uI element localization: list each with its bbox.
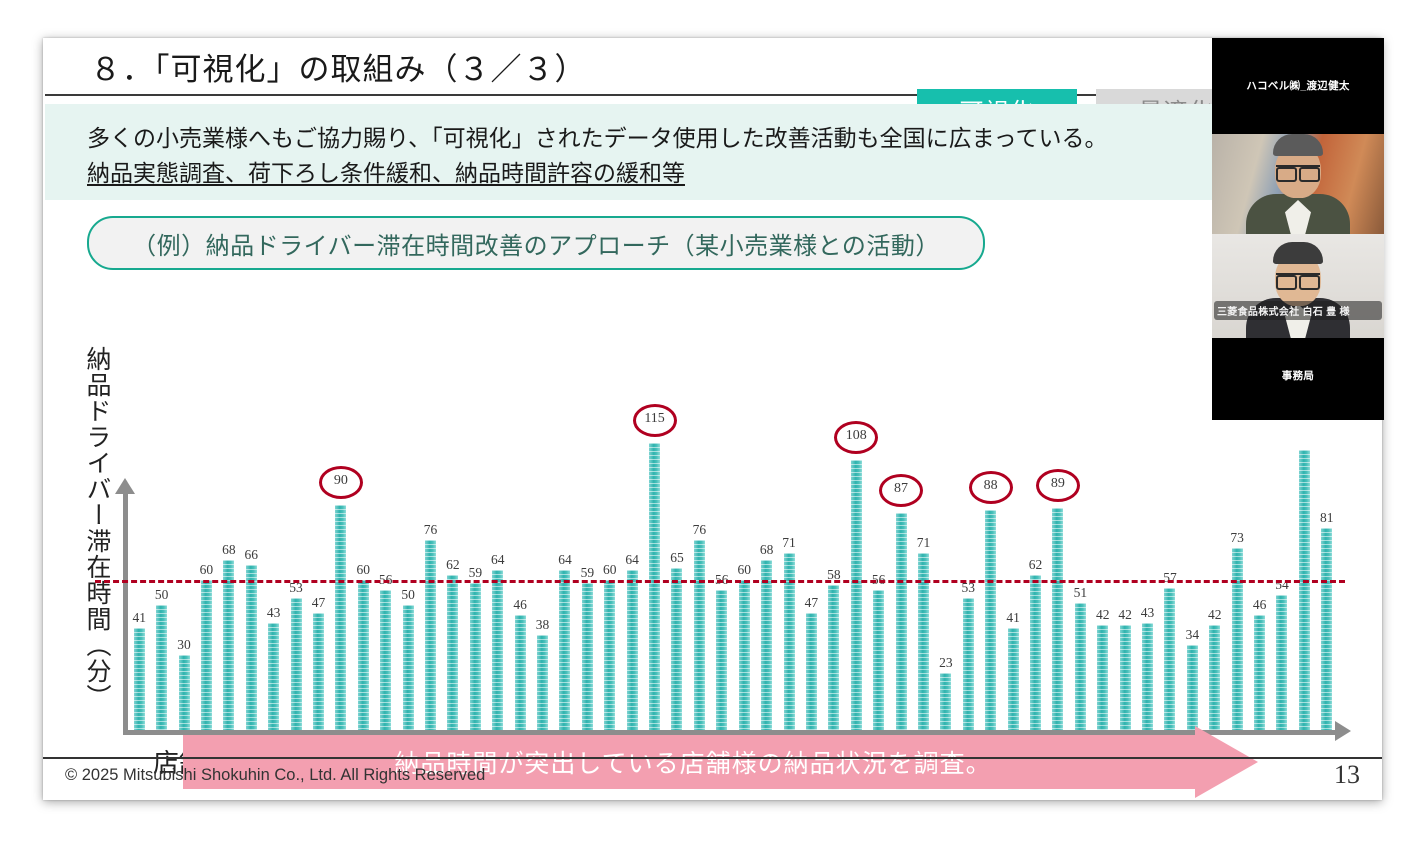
chart-bar-fill — [403, 605, 414, 730]
chart-bar: 53 — [963, 598, 974, 731]
survey-arrow-annotation: 納品時間が突出している店舗様の納品状況を調査。 — [183, 726, 1258, 798]
chart-bar-fill — [627, 570, 638, 730]
chart-bar-fill — [828, 585, 839, 730]
chart-bar-fill — [1030, 575, 1041, 730]
chart-bar: 68 — [223, 560, 234, 730]
chart-bar: 23 — [940, 673, 951, 731]
chart-bar-fill — [582, 583, 593, 731]
chart-bar-value: 57 — [1163, 570, 1177, 586]
slide-title-bar: ８．「可視化」の取組み（３／３） — [43, 38, 1382, 96]
chart-bar: 38 — [537, 635, 548, 730]
video-tile-3[interactable]: 三菱食品株式会社 白石 豊 様 — [1212, 234, 1384, 338]
video-tile-2[interactable] — [1212, 134, 1384, 234]
chart-bar-value: 41 — [132, 610, 146, 626]
chart-bar: 65 — [671, 568, 682, 731]
chart-bar: 59 — [582, 583, 593, 731]
lead-line-1: 多くの小売業様へもご協力賜り、「可視化」されたデータ使用した改善活動も全国に広ま… — [87, 119, 1108, 153]
chart-bar-value-highlighted: 89 — [1036, 469, 1080, 502]
video-tile-4-name: 事務局 — [1212, 368, 1384, 383]
chart-bar-value: 42 — [1096, 607, 1110, 623]
lead-banner: 多くの小売業様へもご協力賜り、「可視化」されたデータ使用した改善活動も全国に広ま… — [45, 104, 1212, 200]
example-callout-text: （例）納品ドライバー滞在時間改善のアプローチ（某小売業様との活動） — [132, 226, 940, 261]
chart-bar: 51 — [1075, 603, 1086, 731]
chart-bar-fill — [1276, 595, 1287, 730]
chart-bar-value: 59 — [469, 565, 483, 581]
presentation-slide: ８．「可視化」の取組み（３／３） 可視化 最適化 多くの小売業様へもご協力賜り、… — [43, 38, 1382, 800]
chart-bar-fill — [1232, 548, 1243, 731]
lead-line-2: 納品実態調査、荷下ろし条件緩和、納品時間許容の緩和等 — [87, 154, 685, 188]
chart-bar: 46 — [1254, 615, 1265, 730]
chart-bar: 60 — [358, 580, 369, 730]
chart-bar: 56 — [873, 590, 884, 730]
chart-bar-fill — [873, 590, 884, 730]
chart-bar-fill — [716, 590, 727, 730]
chart-bar-value-highlighted: 108 — [834, 421, 878, 454]
chart-bar-value-highlighted: 88 — [969, 471, 1013, 504]
chart-bar-fill — [1075, 603, 1086, 731]
chart-bar-fill — [604, 580, 615, 730]
chart-y-axis-label: 納品ドライバー滞在時間（分） — [75, 346, 109, 710]
chart-bar: 64 — [627, 570, 638, 730]
chart-bar-value: 64 — [625, 552, 639, 568]
chart-bar: 60 — [739, 580, 750, 730]
example-callout-box: （例）納品ドライバー滞在時間改善のアプローチ（某小売業様との活動） — [87, 216, 985, 270]
video-conference-panel: ハコベル㈱_渡辺健太 三菱食品株式会社 白石 豊 様 事務局 — [1212, 38, 1384, 420]
chart-bar: 47 — [313, 613, 324, 731]
chart-bar: 87 — [896, 513, 907, 731]
chart-bar-fill — [1164, 588, 1175, 731]
chart-bar: 54 — [1276, 595, 1287, 730]
chart-bar: 66 — [246, 565, 257, 730]
arrow-head-icon — [1195, 726, 1258, 798]
chart-bar-fill — [761, 560, 772, 730]
chart-bar-value: 38 — [536, 617, 550, 633]
chart-bar — [1299, 450, 1310, 730]
participant-avatar-1 — [1238, 134, 1358, 234]
chart-bar-value: 23 — [939, 655, 953, 671]
chart-bar-fill — [649, 443, 660, 731]
chart-bar-fill — [156, 605, 167, 730]
footer-page-number: 13 — [1334, 760, 1360, 790]
chart-bar: 115 — [649, 443, 660, 731]
chart-bar: 47 — [806, 613, 817, 731]
chart-bar-fill — [1299, 450, 1310, 730]
chart-bar: 50 — [403, 605, 414, 730]
chart-bar-value: 73 — [1230, 530, 1244, 546]
chart-bar-fill — [1142, 623, 1153, 731]
chart-bar-value: 43 — [267, 605, 281, 621]
chart-bar-value: 71 — [782, 535, 796, 551]
chart-bar-value: 46 — [513, 597, 527, 613]
chart-bar-fill — [1321, 528, 1332, 731]
chart-bar-fill — [963, 598, 974, 731]
chart-bar-value: 42 — [1208, 607, 1222, 623]
chart-bar: 81 — [1321, 528, 1332, 731]
threshold-reference-line — [95, 580, 1345, 583]
chart-bar-fill — [470, 583, 481, 731]
footer-copyright: © 2025 Mitsubishi Shokuhin Co., Ltd. All… — [65, 766, 485, 785]
chart-bar-fill — [1209, 625, 1220, 730]
chart-bar-fill — [537, 635, 548, 730]
chart-bar-fill — [335, 505, 346, 730]
chart-bar-fill — [358, 580, 369, 730]
screen: ８．「可視化」の取組み（３／３） 可視化 最適化 多くの小売業様へもご協力賜り、… — [0, 0, 1425, 842]
chart-bar-value: 47 — [312, 595, 326, 611]
chart-bar-fill — [940, 673, 951, 731]
video-tile-1-name: ハコベル㈱_渡辺健太 — [1212, 78, 1384, 93]
chart-bar-value: 46 — [1253, 597, 1267, 613]
chart-bar-value-highlighted: 87 — [879, 474, 923, 507]
page-title: ８．「可視化」の取組み（３／３） — [90, 44, 587, 89]
chart-bar-value: 59 — [581, 565, 595, 581]
chart-bar-fill — [1120, 625, 1131, 730]
chart-bar-value: 60 — [357, 562, 371, 578]
chart-bar-value: 65 — [670, 550, 684, 566]
chart-bar-value: 50 — [401, 587, 415, 603]
chart-bar-value: 51 — [1074, 585, 1088, 601]
chart-bar: 42 — [1097, 625, 1108, 730]
chart-bar-fill — [1052, 508, 1063, 731]
chart-bar-fill — [313, 613, 324, 731]
chart-bar: 88 — [985, 510, 996, 730]
chart-bar-value: 60 — [737, 562, 751, 578]
chart-bar-value: 71 — [917, 535, 931, 551]
chart-bar-value: 60 — [200, 562, 214, 578]
chart-bar-fill — [223, 560, 234, 730]
video-tile-3-name: 三菱食品株式会社 白石 豊 様 — [1214, 301, 1382, 320]
chart-bar: 30 — [179, 655, 190, 730]
chart-bar: 73 — [1232, 548, 1243, 731]
chart-bar-value: 66 — [244, 547, 258, 563]
footer-divider — [43, 757, 1382, 759]
chart-bar-value: 68 — [760, 542, 774, 558]
chart-bar-fill — [492, 570, 503, 730]
chart-bar-fill — [559, 570, 570, 730]
chart-bar: 76 — [425, 540, 436, 730]
chart-bar-value: 68 — [222, 542, 236, 558]
chart-bar-value: 62 — [1029, 557, 1043, 573]
chart-bar: 64 — [492, 570, 503, 730]
chart-bar-fill — [447, 575, 458, 730]
chart-bar: 43 — [1142, 623, 1153, 731]
chart-bar-value: 50 — [155, 587, 169, 603]
chart-bar-value-highlighted: 115 — [633, 404, 677, 437]
chart-bar-fill — [896, 513, 907, 731]
chart-bar: 68 — [761, 560, 772, 730]
chart-bar: 90 — [335, 505, 346, 730]
chart-bar-value: 30 — [177, 637, 191, 653]
chart-bar: 59 — [470, 583, 481, 731]
delivery-stay-time-chart: 納品ドライバー滞在時間（分） 店舗 4150306068664353479060… — [43, 338, 1382, 758]
chart-bar-fill — [851, 460, 862, 730]
chart-bar-fill — [425, 540, 436, 730]
chart-bar-value: 62 — [446, 557, 460, 573]
chart-bar-fill — [739, 580, 750, 730]
chart-bar: 46 — [515, 615, 526, 730]
chart-bar: 60 — [201, 580, 212, 730]
chart-bar: 89 — [1052, 508, 1063, 731]
chart-bar: 64 — [559, 570, 570, 730]
chart-bar: 50 — [156, 605, 167, 730]
chart-bar-fill — [1008, 628, 1019, 731]
chart-bar-value: 42 — [1118, 607, 1132, 623]
chart-bar-fill — [380, 590, 391, 730]
chart-bar-fill — [268, 623, 279, 731]
chart-bar-value: 81 — [1320, 510, 1334, 526]
chart-bar: 41 — [134, 628, 145, 731]
chart-bar: 56 — [716, 590, 727, 730]
chart-bar: 60 — [604, 580, 615, 730]
chart-bar-value: 76 — [693, 522, 707, 538]
chart-bar-fill — [201, 580, 212, 730]
chart-bar-fill — [1187, 645, 1198, 730]
chart-bar: 34 — [1187, 645, 1198, 730]
video-tile-4[interactable]: 事務局 — [1212, 338, 1384, 420]
chart-bar-fill — [291, 598, 302, 731]
chart-bar: 57 — [1164, 588, 1175, 731]
chart-bar: 76 — [694, 540, 705, 730]
chart-bar: 58 — [828, 585, 839, 730]
chart-bar-fill — [1254, 615, 1265, 730]
chart-bar: 56 — [380, 590, 391, 730]
chart-bar: 42 — [1120, 625, 1131, 730]
chart-bar-value: 34 — [1186, 627, 1200, 643]
chart-bar-fill — [1097, 625, 1108, 730]
chart-bar-value: 64 — [491, 552, 505, 568]
chart-bar: 108 — [851, 460, 862, 730]
chart-bar-fill — [694, 540, 705, 730]
chart-bar-value-highlighted: 90 — [319, 466, 363, 499]
video-tile-1[interactable]: ハコベル㈱_渡辺健太 — [1212, 38, 1384, 134]
chart-bar-value: 60 — [603, 562, 617, 578]
chart-bar: 62 — [1030, 575, 1041, 730]
chart-bar: 62 — [447, 575, 458, 730]
chart-bar-fill — [179, 655, 190, 730]
chart-bar-value: 47 — [805, 595, 819, 611]
chart-bar: 53 — [291, 598, 302, 731]
chart-bar-value: 64 — [558, 552, 572, 568]
chart-bar: 41 — [1008, 628, 1019, 731]
chart-bar-fill — [246, 565, 257, 730]
chart-bar-value: 76 — [424, 522, 438, 538]
chart-bar: 43 — [268, 623, 279, 731]
chart-bar-fill — [671, 568, 682, 731]
chart-bar: 42 — [1209, 625, 1220, 730]
chart-bar-fill — [985, 510, 996, 730]
participant-avatar-2 — [1238, 234, 1358, 338]
chart-bar-value: 41 — [1006, 610, 1020, 626]
chart-bar-value: 43 — [1141, 605, 1155, 621]
chart-bar-fill — [806, 613, 817, 731]
chart-bar-fill — [134, 628, 145, 731]
chart-bar-fill — [515, 615, 526, 730]
